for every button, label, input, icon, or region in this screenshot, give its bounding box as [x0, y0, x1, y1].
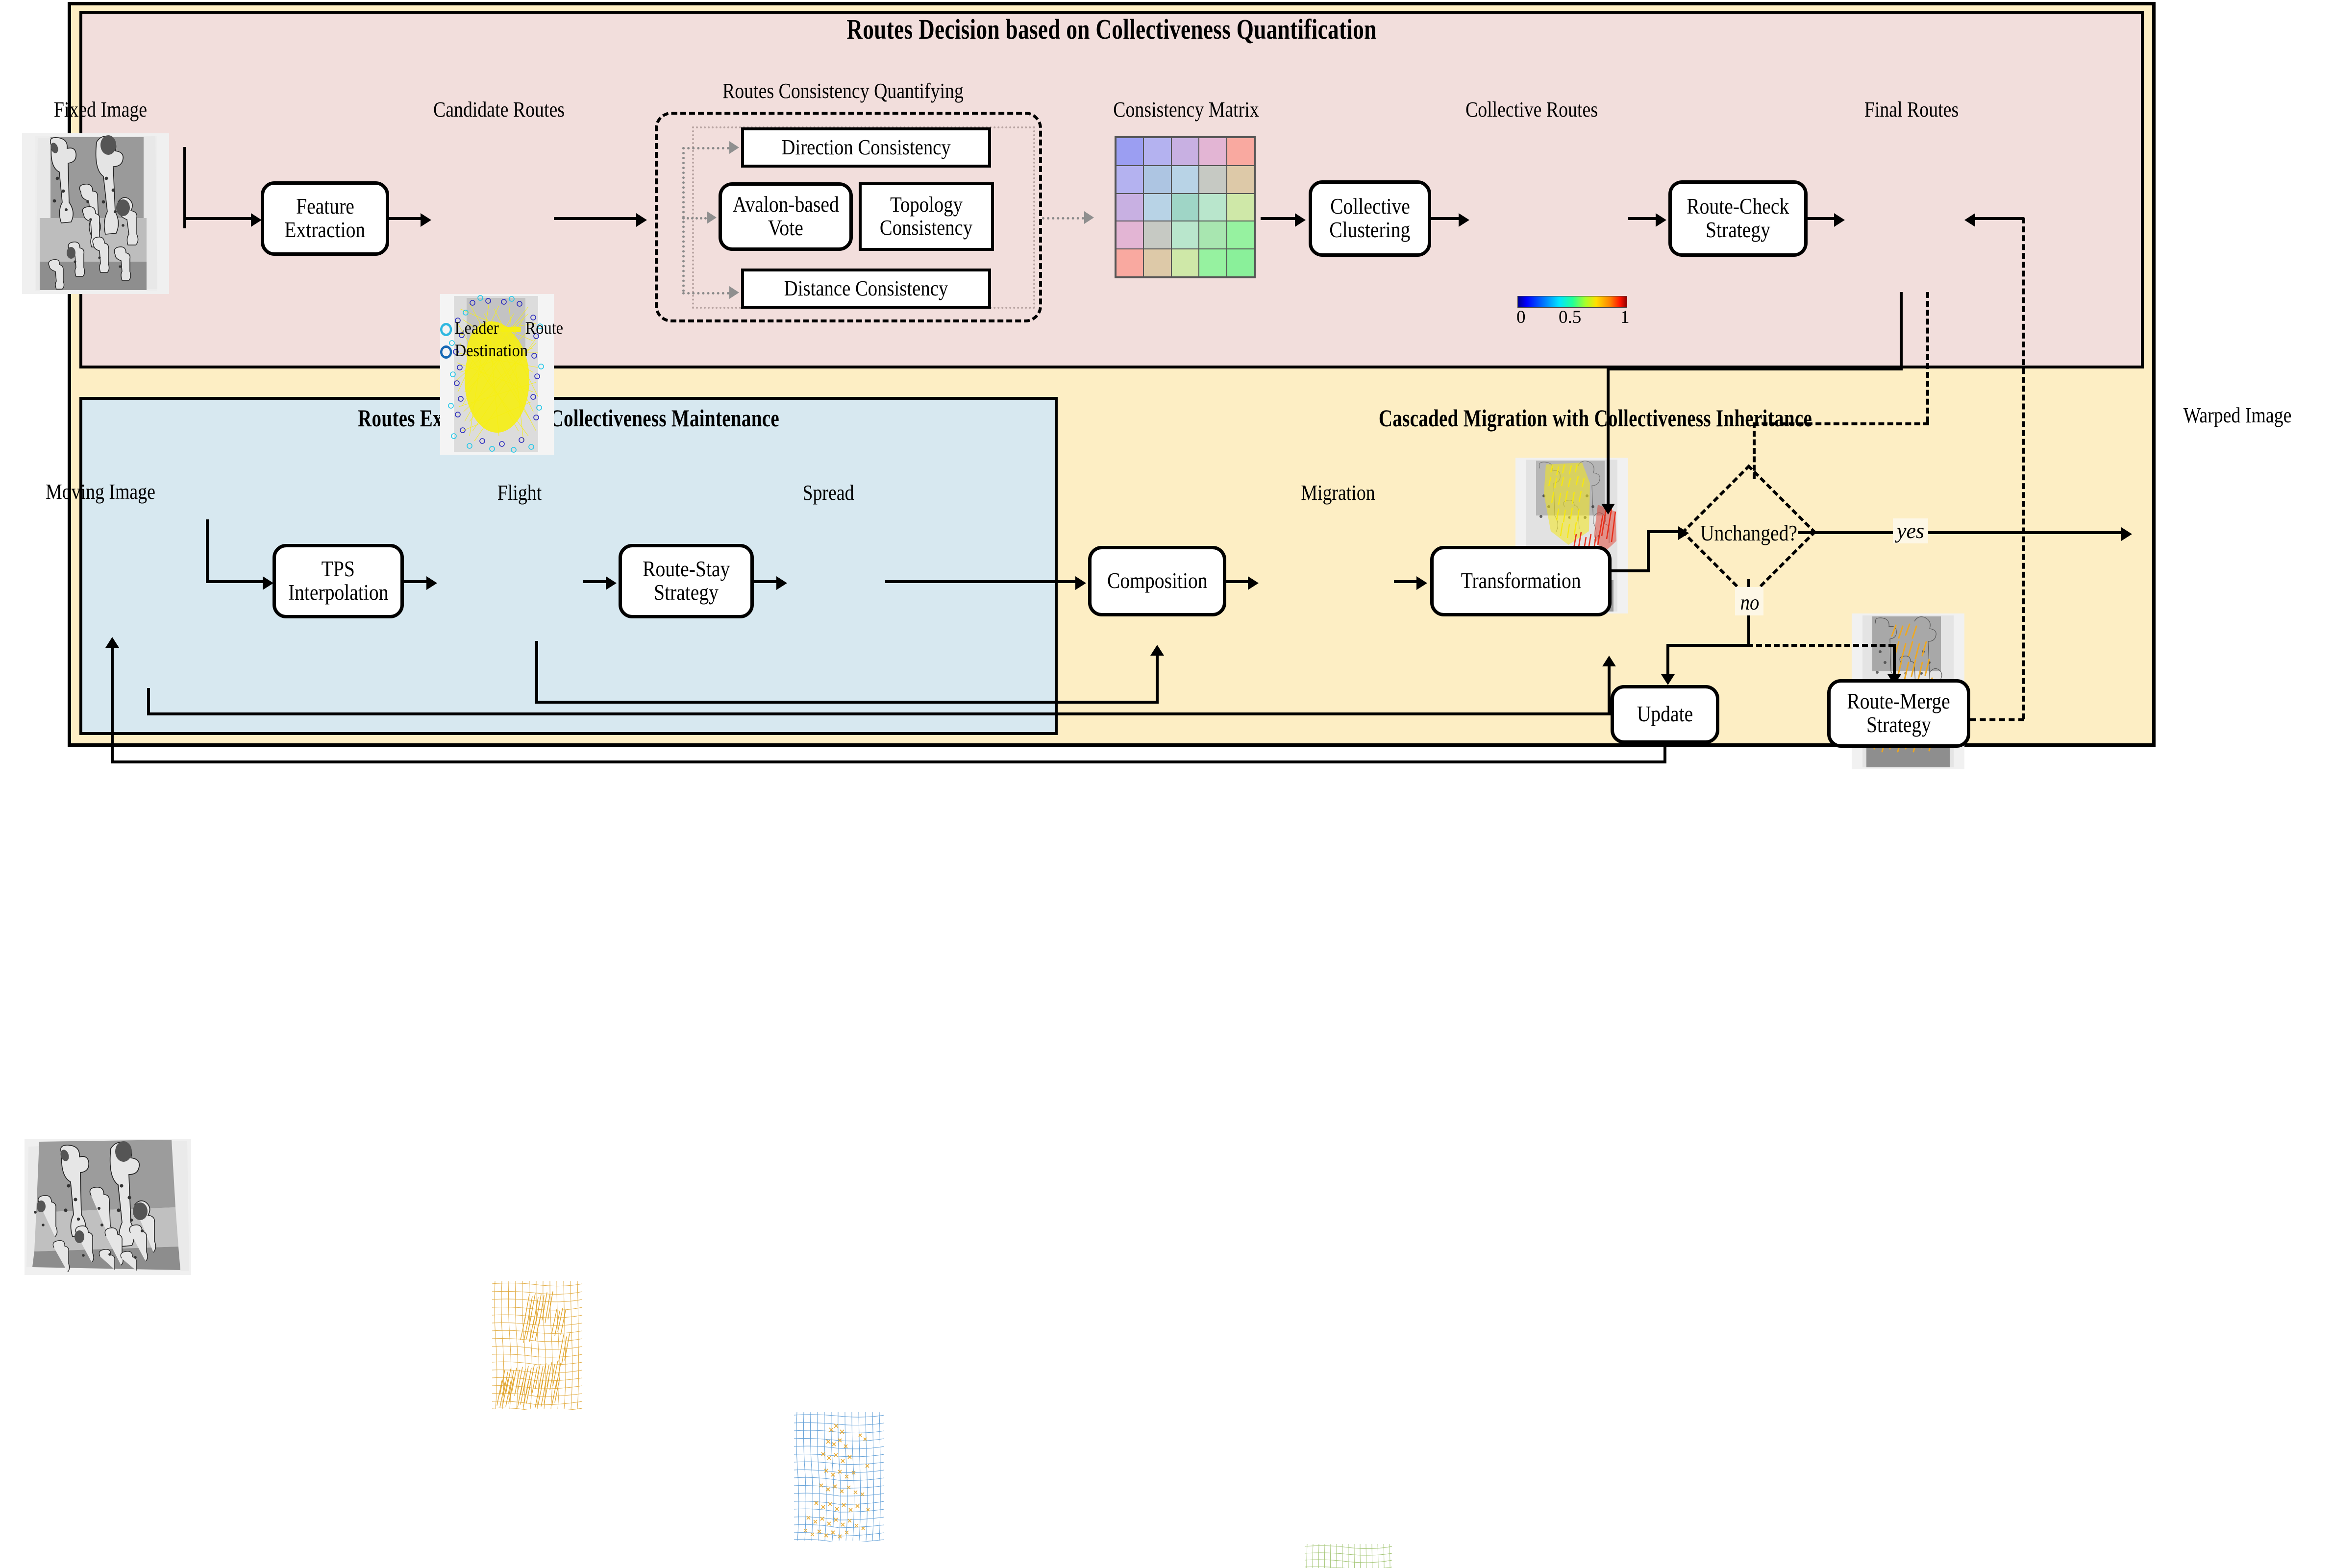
matrix-cell: [1227, 138, 1254, 166]
matrix-cell: [1143, 138, 1171, 166]
matrix-cell: [1143, 221, 1171, 249]
consistency-matrix-label: Consistency Matrix: [1102, 97, 1270, 122]
arrowhead-composition-in: [1075, 576, 1086, 590]
arrowhead-tps-in: [263, 576, 273, 590]
routes-decision-title: Routes Decision based on Collectiveness …: [306, 13, 1916, 46]
connector-spread-to-composition: [885, 580, 1075, 583]
warped-image-label: Warped Image: [2155, 403, 2319, 428]
connector-quant-to-matrix-dotted: [1042, 217, 1084, 220]
connector-update-up-to-moving: [111, 648, 114, 761]
matrix-cell: [1171, 166, 1199, 194]
arrowhead-final-right-in: [1964, 213, 1975, 227]
colorbar: [1517, 296, 1627, 308]
transformation-box[interactable]: Transformation: [1430, 546, 1612, 616]
arrowhead-transformation-in: [1416, 576, 1427, 590]
connector-no-to-update-v: [1666, 644, 1669, 674]
direction-consistency-label: Direction Consistency: [781, 136, 950, 159]
migration-grid: [1303, 1543, 1394, 1568]
moving-image: [25, 1139, 191, 1275]
matrix-cell: [1199, 221, 1226, 249]
arrowhead-spread-in: [776, 576, 787, 590]
matrix-cell: [1116, 221, 1143, 249]
cascaded-migration-title: Cascaded Migration with Collectiveness I…: [1177, 404, 2014, 432]
spread-label: Spread: [773, 480, 883, 505]
arrowhead-check-in: [1656, 213, 1666, 227]
connector-fixed-to-feature: [183, 147, 186, 228]
candidate-routes-label: Candidate Routes: [431, 97, 566, 122]
avalon-vote-line1: Avalon-based: [732, 193, 839, 217]
routes-consistency-label: Routes Consistency Quantifying: [666, 78, 1020, 103]
collective-clustering-line1: Collective: [1330, 195, 1410, 219]
legend-destination: Destination: [440, 340, 528, 361]
moving-image-label: Moving Image: [18, 479, 182, 504]
feature-extraction-box[interactable]: Feature Extraction: [261, 181, 389, 256]
transformation-label: Transformation: [1461, 569, 1581, 593]
connector-merge-up-dashed: [2022, 218, 2025, 719]
grey-arrow-direction: [729, 141, 739, 154]
connector-transform-loop-left: [147, 688, 150, 715]
connector-collective-to-check: [1628, 217, 1656, 220]
route-line-icon: [500, 327, 521, 332]
connector-routestay-to-spread: [754, 580, 776, 583]
matrix-cell: [1116, 249, 1143, 277]
feature-extraction-line2: Extraction: [285, 219, 366, 242]
connector-merge-to-final-h: [1975, 217, 2024, 220]
route-merge-box[interactable]: Route-Merge Strategy: [1827, 679, 1970, 748]
connector-no-to-merge-v: [1893, 644, 1896, 674]
route-check-line2: Strategy: [1706, 219, 1770, 242]
connector-transform-to-diamond-h2: [1647, 530, 1678, 533]
matrix-cell: [1143, 249, 1171, 277]
matrix-cell: [1143, 166, 1171, 194]
colorbar-ticks: 0 0.5 1: [1515, 307, 1629, 331]
connector-feature-to-candidate: [389, 217, 421, 220]
fixed-image-label: Fixed Image: [18, 97, 182, 122]
route-stay-line2: Strategy: [654, 581, 719, 605]
connector-transform-bottom-v: [1608, 666, 1611, 715]
direction-consistency-box[interactable]: Direction Consistency: [741, 127, 991, 168]
arrowhead-transform-top: [1601, 504, 1615, 514]
grey-arrow-distance: [729, 286, 739, 299]
arrowhead-final-in: [1834, 213, 1845, 227]
matrix-cell: [1171, 249, 1199, 277]
matrix-cell: [1171, 221, 1199, 249]
matrix-cell: [1199, 249, 1226, 277]
grey-branch-mid: [682, 217, 707, 220]
arrowhead-collective-in: [1459, 213, 1469, 227]
colorbar-tick-0: 0: [1516, 307, 1526, 328]
arrowhead-update-in: [1661, 674, 1675, 685]
route-merge-line1: Route-Merge: [1847, 690, 1950, 713]
connector-no-to-merge-dashed: [1747, 644, 1894, 647]
legend-destination-label: Destination: [455, 341, 528, 360]
routes-execution-title: Routes Execution with Collectiveness Mai…: [190, 404, 947, 432]
distance-consistency-label: Distance Consistency: [784, 277, 948, 300]
flight-label: Flight: [465, 480, 574, 505]
composition-label: Composition: [1107, 569, 1208, 593]
matrix-cell: [1116, 194, 1143, 221]
connector-flight-to-routestay: [583, 580, 606, 583]
connector-composition-to-migration: [1226, 580, 1248, 583]
route-stay-line1: Route-Stay: [643, 558, 730, 581]
matrix-cell: [1227, 194, 1254, 221]
matrix-cell: [1171, 138, 1199, 166]
matrix-cell: [1227, 166, 1254, 194]
destination-marker-icon: [440, 345, 452, 359]
route-stay-box[interactable]: Route-Stay Strategy: [619, 544, 754, 618]
fixed-image: [22, 133, 169, 294]
final-routes-label: Final Routes: [1836, 97, 1987, 122]
colorbar-tick-1: 1: [1620, 307, 1630, 328]
matrix-cell: [1199, 166, 1226, 194]
grey-branch-vertical: [682, 147, 685, 292]
legend-leader-label: Leader: [455, 318, 499, 338]
connector-flight-to-composition-h: [535, 701, 1159, 704]
connector-clustering-to-collective: [1431, 217, 1459, 220]
unchanged-decision-label: Unchanged?: [1685, 520, 1812, 546]
route-merge-line2: Strategy: [1866, 713, 1931, 737]
collective-clustering-line2: Clustering: [1330, 219, 1411, 242]
matrix-cell: [1199, 138, 1226, 166]
grey-branch-bottom: [682, 292, 729, 294]
connector-final-to-transform: [1607, 367, 1610, 504]
migration-label: Migration: [1279, 480, 1397, 505]
matrix-cell: [1143, 194, 1171, 221]
connector-no-to-update-h: [1666, 644, 1750, 647]
grey-branch-top: [682, 147, 729, 149]
legend-leader: LeaderRoute: [440, 318, 563, 338]
update-label: Update: [1637, 703, 1693, 726]
connector-moving-right: [206, 580, 263, 583]
update-box[interactable]: Update: [1611, 685, 1719, 744]
connector-moving-up: [206, 519, 209, 583]
arrowhead-transform-loop: [1602, 656, 1616, 666]
route-check-box[interactable]: Route-Check Strategy: [1668, 180, 1808, 257]
topology-consistency-line1: Topology: [890, 194, 963, 217]
leader-marker-icon: [440, 323, 452, 336]
routes-execution-panel: [79, 397, 1058, 735]
connector-final-dashed-down: [1926, 292, 1929, 422]
flight-grid: [490, 1279, 583, 1410]
yes-label: yes: [1893, 518, 1928, 543]
colorbar-tick-half: 0.5: [1559, 307, 1581, 328]
arrowhead-moving-bottom: [105, 637, 119, 648]
connector-flight-down: [535, 641, 538, 704]
grey-arrow-avalon: [707, 211, 717, 224]
connector-matrix-to-clustering: [1261, 217, 1295, 220]
matrix-cell: [1171, 194, 1199, 221]
connector-final-down-solid: [1900, 292, 1903, 370]
collective-clustering-box[interactable]: Collective Clustering: [1309, 180, 1431, 257]
arrowhead-warped-in: [2121, 527, 2132, 541]
connector-final-left-solid: [1607, 367, 1903, 370]
consistency-matrix: [1115, 136, 1256, 278]
connector-migration-to-transformation: [1394, 580, 1416, 583]
connector-transform-to-diamond-h1: [1612, 569, 1650, 572]
tps-interpolation-line2: Interpolation: [288, 581, 389, 605]
tps-interpolation-box[interactable]: TPS Interpolation: [273, 544, 404, 618]
arrowhead-flight-in: [426, 576, 437, 590]
legend-route-label: Route: [525, 318, 563, 338]
tps-interpolation-line1: TPS: [322, 558, 355, 581]
distance-consistency-box[interactable]: Distance Consistency: [741, 269, 991, 309]
no-label: no: [1719, 590, 1780, 615]
composition-box[interactable]: Composition: [1088, 546, 1226, 616]
topology-consistency-line2: Consistency: [880, 217, 972, 240]
connector-transform-bottom-h: [147, 712, 1611, 715]
arrowhead-migration-in: [1248, 576, 1259, 590]
arrowhead-feature-in: [251, 213, 262, 227]
arrowhead-routestay-in: [606, 576, 617, 590]
connector-final-dashed-left: [1753, 422, 1929, 425]
collective-routes-label: Collective Routes: [1452, 97, 1612, 122]
arrowhead-candidate-in: [421, 213, 431, 227]
connector-candidate-to-quant: [554, 217, 636, 220]
matrix-cell: [1227, 221, 1254, 249]
connector-transform-to-diamond-v: [1647, 530, 1650, 572]
matrix-cell: [1227, 249, 1254, 277]
spread-grid: [792, 1410, 885, 1542]
avalon-vote-line2: Vote: [768, 217, 803, 240]
routes-decision-panel: [79, 11, 2144, 368]
connector-check-to-final: [1808, 217, 1834, 220]
connector-fixed-h: [183, 217, 251, 220]
avalon-vote-box[interactable]: Avalon-based Vote: [719, 182, 853, 251]
arrowhead-quant-in: [636, 213, 647, 227]
connector-merge-right-dashed: [1970, 718, 2024, 721]
matrix-cell: [1199, 194, 1226, 221]
connector-tps-to-flight: [404, 580, 426, 583]
matrix-cell: [1116, 166, 1143, 194]
connector-yes-branch: [1798, 531, 2121, 534]
route-check-line1: Route-Check: [1687, 195, 1789, 219]
arrowhead-matrix-in: [1084, 211, 1094, 224]
matrix-cell: [1116, 138, 1143, 166]
connector-update-left-long: [111, 760, 1666, 763]
connector-composition-bottom-v: [1156, 656, 1159, 703]
feature-extraction-line1: Feature: [296, 195, 354, 219]
arrowhead-clustering-in: [1295, 213, 1306, 227]
arrowhead-composition-bottom: [1150, 645, 1164, 656]
topology-consistency-box[interactable]: Topology Consistency: [859, 182, 994, 251]
